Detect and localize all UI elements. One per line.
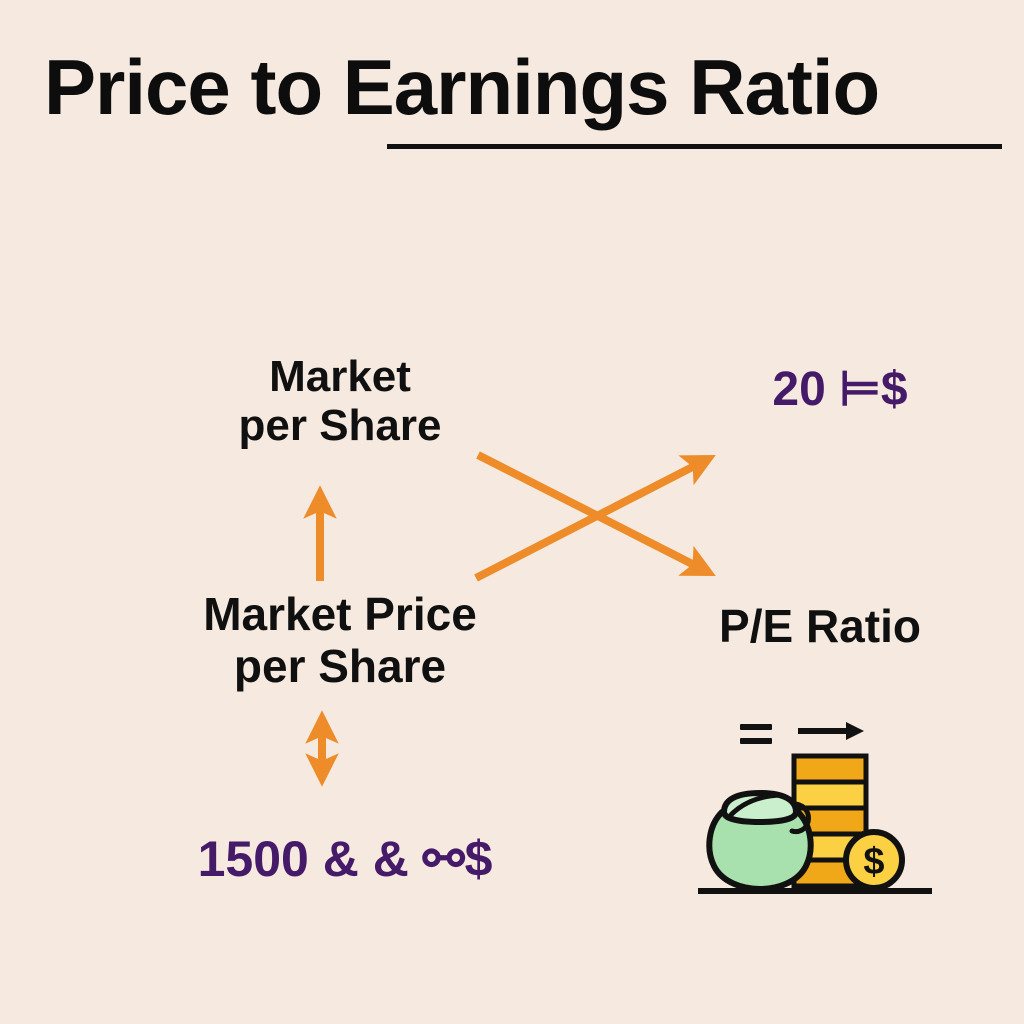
money-illustration: $ [684,700,946,910]
arrow-right-icon [798,722,864,740]
money-bag-icon [709,793,810,889]
denominator-label-line2: per Share [120,641,560,693]
page-title: Price to Earnings Ratio [44,48,1004,126]
equals-icon [740,724,772,744]
ground-line [698,888,932,894]
arrow-cross-up [476,459,708,578]
arrow-cross-down [478,455,708,572]
title-block: Price to Earnings Ratio [44,48,1004,158]
gold-coin-icon: $ [846,832,902,888]
denominator-label-line1: Market Price [120,589,560,641]
coin-dollar-symbol: $ [863,841,884,883]
title-underline [387,144,1002,149]
numerator-label: Market per Share [150,352,530,451]
numerator-label-line1: Market [150,352,530,401]
infographic-canvas: Price to Earnings Ratio Market per Share… [0,0,1024,1024]
result-label: P/E Ratio [660,601,980,653]
numerator-label-line2: per Share [150,401,530,450]
denominator-value: 1500 & & ⚯$ [120,832,570,887]
denominator-label: Market Price per Share [120,589,560,692]
numerator-value: 20 ⊨$ [680,364,1000,417]
